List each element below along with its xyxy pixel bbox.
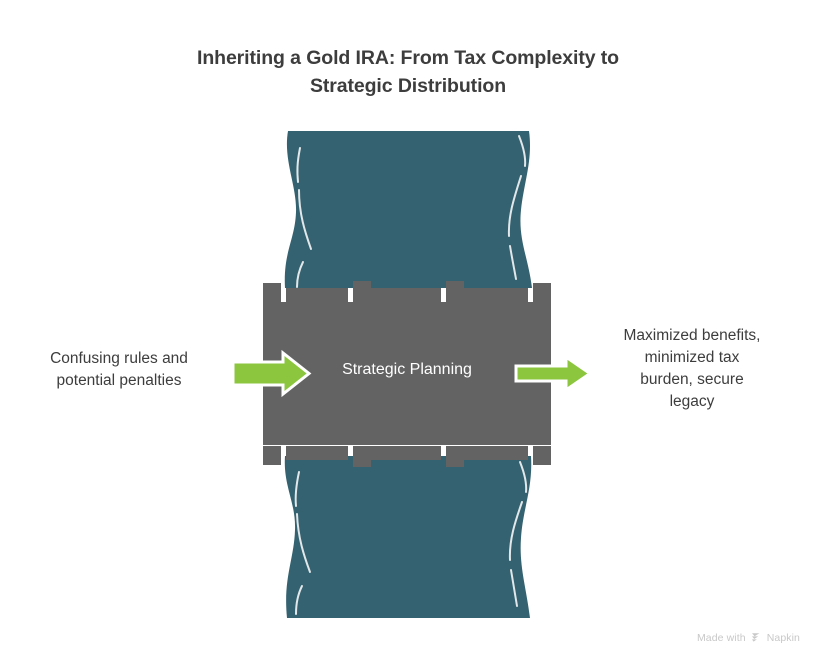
input-label-line-1: Confusing rules and [8, 348, 230, 370]
input-label-line-2: potential penalties [8, 370, 230, 392]
output-label-line-2: minimized tax [592, 347, 792, 369]
output-label-line-3: burden, secure [592, 369, 792, 391]
napkin-watermark: Made with Napkin [697, 631, 800, 644]
diagram-canvas: Inheriting a Gold IRA: From Tax Complexi… [0, 0, 816, 660]
watermark-brand: Napkin [767, 632, 800, 644]
lower-pipe-segment [285, 456, 531, 618]
output-label-line-4: legacy [592, 391, 792, 413]
output-label-line-1: Maximized benefits, [592, 325, 792, 347]
output-label: Maximized benefits, minimized tax burden… [592, 325, 792, 413]
watermark-prefix: Made with [697, 632, 746, 644]
input-label: Confusing rules and potential penalties [8, 348, 230, 392]
strategic-planning-label: Strategic Planning [263, 360, 551, 380]
napkin-logo-icon [750, 631, 763, 644]
upper-pipe-segment [285, 131, 532, 288]
